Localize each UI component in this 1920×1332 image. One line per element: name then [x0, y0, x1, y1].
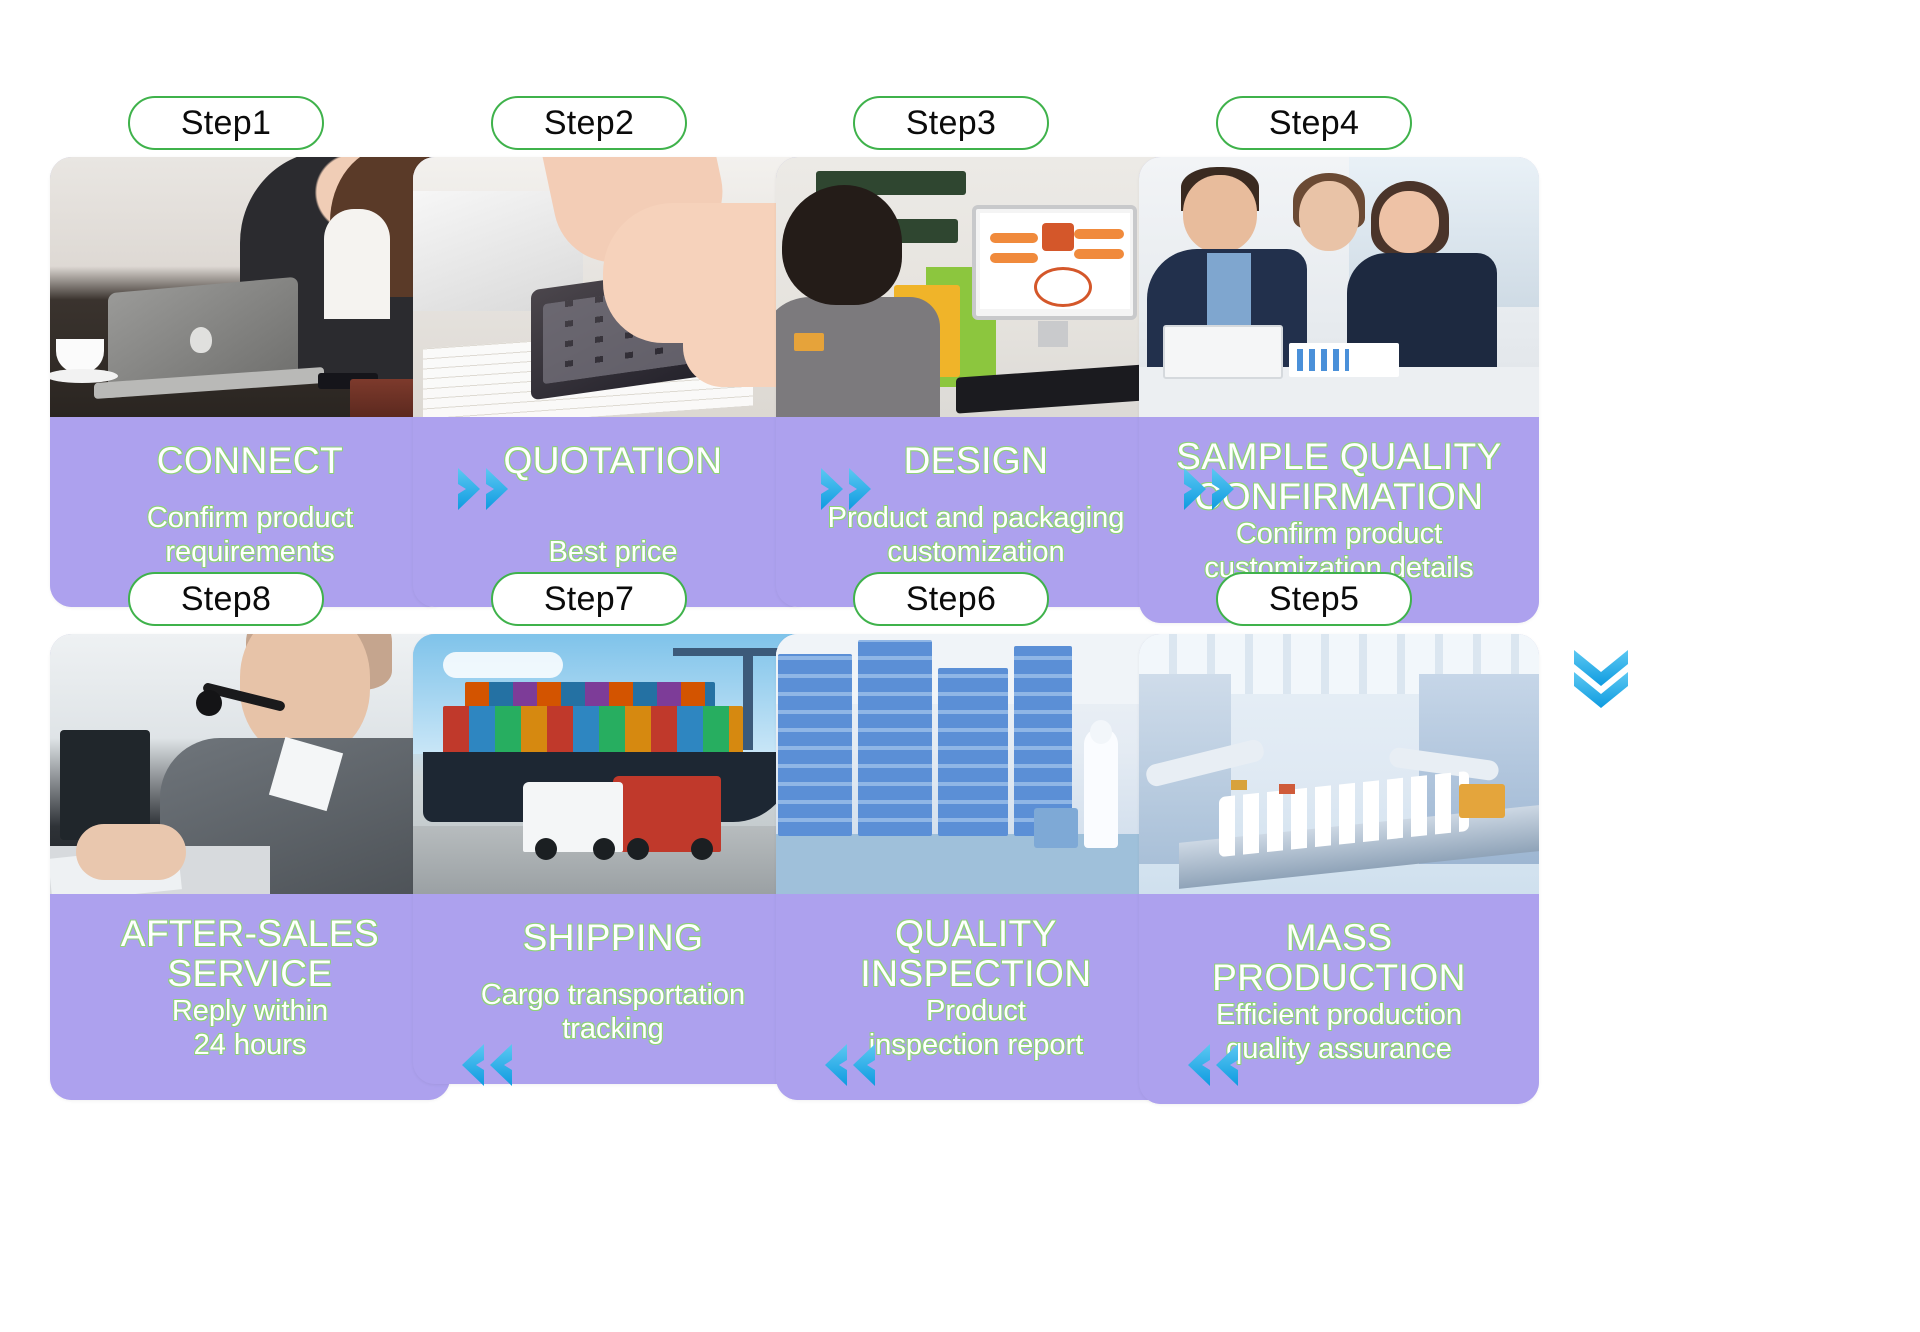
process-flow-diagram: Step1 Step2 Step3 Step4 CONNECT Confirm … [0, 0, 1920, 1332]
double-chevron-right-icon [1182, 464, 1242, 514]
step-badge-label: Step4 [1269, 104, 1359, 143]
double-chevron-down-icon [1570, 648, 1632, 710]
step-badge-label: Step5 [1269, 580, 1359, 619]
flow-arrow-2-to-3 [819, 464, 879, 514]
step-photo-quotation [413, 157, 813, 417]
step-badge-6[interactable]: Step6 [853, 572, 1049, 626]
flow-arrow-3-to-4 [1182, 464, 1242, 514]
step-subtitle: Confirm product requirements [147, 501, 353, 569]
step-card-connect[interactable]: CONNECT Confirm product requirements [50, 157, 450, 607]
step-photo-mass-production [1139, 634, 1539, 894]
step-card-sample-quality-confirmation[interactable]: SAMPLE QUALITY CONFIRMATION Confirm prod… [1139, 157, 1539, 623]
double-chevron-left-icon [1182, 1040, 1242, 1090]
step-photo-shipping [413, 634, 813, 894]
step-badge-1[interactable]: Step1 [128, 96, 324, 150]
step-subtitle: Cargo transportation tracking [481, 978, 745, 1046]
step-badge-label: Step7 [544, 580, 634, 619]
step-photo-design [776, 157, 1176, 417]
flow-arrow-6-to-7 [819, 1040, 879, 1090]
step-photo-quality-inspection [776, 634, 1176, 894]
step-badge-label: Step6 [906, 580, 996, 619]
step-subtitle: Reply within 24 hours [172, 994, 328, 1062]
step-title: CONNECT [157, 441, 343, 481]
step-badge-label: Step8 [181, 580, 271, 619]
step-title: QUALITY INSPECTION [860, 914, 1091, 994]
step-photo-sample-quality [1139, 157, 1539, 417]
step-badge-3[interactable]: Step3 [853, 96, 1049, 150]
step-subtitle: Efficient production quality assurance [1216, 998, 1462, 1066]
step-badge-label: Step3 [906, 104, 996, 143]
step-card-after-sales-service[interactable]: AFTER-SALES SERVICE Reply within 24 hour… [50, 634, 450, 1100]
flow-arrow-5-to-6 [1182, 1040, 1242, 1090]
step-card-mass-production[interactable]: MASS PRODUCTION Efficient production qua… [1139, 634, 1539, 1104]
flow-arrow-1-to-2 [456, 464, 516, 514]
step-photo-after-sales [50, 634, 450, 894]
step-badge-label: Step2 [544, 104, 634, 143]
step-card-design[interactable]: DESIGN Product and packaging customizati… [776, 157, 1176, 607]
double-chevron-left-icon [456, 1040, 516, 1090]
step-title: MASS PRODUCTION [1155, 918, 1523, 998]
step-badge-7[interactable]: Step7 [491, 572, 687, 626]
step-card-quotation[interactable]: QUOTATION Best price [413, 157, 813, 607]
double-chevron-right-icon [819, 464, 879, 514]
step-photo-connect [50, 157, 450, 417]
step-badge-label: Step1 [181, 104, 271, 143]
flow-arrow-4-to-5 [1570, 648, 1632, 710]
step-card-quality-inspection[interactable]: QUALITY INSPECTION Product inspection re… [776, 634, 1176, 1100]
step-title: QUOTATION [504, 441, 723, 481]
step-subtitle: Product inspection report [869, 994, 1083, 1062]
step-text-block: AFTER-SALES SERVICE Reply within 24 hour… [50, 894, 450, 1100]
step-title: AFTER-SALES SERVICE [121, 914, 379, 994]
step-badge-5[interactable]: Step5 [1216, 572, 1412, 626]
step-badge-8[interactable]: Step8 [128, 572, 324, 626]
step-card-shipping[interactable]: SHIPPING Cargo transportation tracking [413, 634, 813, 1084]
double-chevron-left-icon [819, 1040, 879, 1090]
step-badge-4[interactable]: Step4 [1216, 96, 1412, 150]
step-badge-2[interactable]: Step2 [491, 96, 687, 150]
step-title: SHIPPING [523, 918, 704, 958]
step-subtitle: Best price [549, 535, 678, 569]
flow-arrow-7-to-8 [456, 1040, 516, 1090]
double-chevron-right-icon [456, 464, 516, 514]
step-title: DESIGN [904, 441, 1049, 481]
